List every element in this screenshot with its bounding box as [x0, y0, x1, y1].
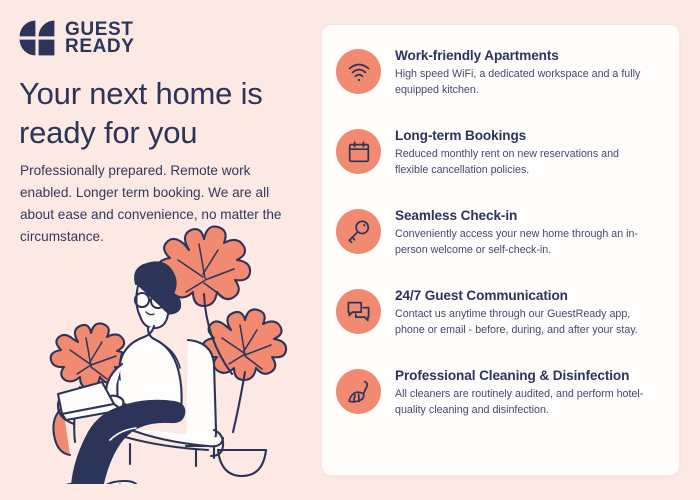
feature-text: Long-term Bookings Reduced monthly rent … [395, 127, 665, 178]
brand-wordmark: GUEST READY [65, 21, 135, 56]
feature-title: Long-term Bookings [395, 128, 665, 144]
key-icon [336, 209, 381, 254]
brand-name-line-2: READY [65, 38, 135, 55]
feature-item-seamless-check-in[interactable]: Seamless Check-in Conveniently access yo… [336, 207, 665, 271]
features-card: Work-friendly Apartments High speed WiFi… [322, 25, 679, 475]
feature-title: Professional Cleaning & Disinfection [395, 368, 665, 384]
feature-description: High speed WiFi, a dedicated workspace a… [395, 67, 647, 98]
woman-working-on-laptop-in-armchair-with-plants-illustration [18, 222, 308, 484]
feature-description: Conveniently access your new home throug… [395, 227, 647, 258]
feature-description: Reduced monthly rent on new reservations… [395, 147, 647, 178]
guestready-quadrant-logo-icon [19, 20, 55, 56]
feature-title: 24/7 Guest Communication [395, 288, 665, 304]
feature-title: Seamless Check-in [395, 208, 665, 224]
feature-item-work-friendly-apartments[interactable]: Work-friendly Apartments High speed WiFi… [336, 47, 665, 111]
feature-item-guest-communication[interactable]: 24/7 Guest Communication Contact us anyt… [336, 287, 665, 351]
broom-icon [336, 369, 381, 414]
feature-item-long-term-bookings[interactable]: Long-term Bookings Reduced monthly rent … [336, 127, 665, 191]
feature-description: All cleaners are routinely audited, and … [395, 387, 647, 418]
page-title: Your next home is ready for you [19, 74, 301, 152]
feature-title: Work-friendly Apartments [395, 48, 665, 64]
chat-bubbles-icon [336, 289, 381, 334]
feature-list: Work-friendly Apartments High speed WiFi… [322, 25, 679, 447]
feature-item-professional-cleaning[interactable]: Professional Cleaning & Disinfection All… [336, 367, 665, 431]
calendar-icon [336, 129, 381, 174]
feature-text: 24/7 Guest Communication Contact us anyt… [395, 287, 665, 338]
brand-logo[interactable]: GUEST READY [19, 20, 135, 56]
marketing-page: GUEST READY Your next home is ready for … [0, 0, 700, 500]
feature-description: Contact us anytime through our GuestRead… [395, 307, 647, 338]
left-column: GUEST READY Your next home is ready for … [0, 0, 312, 500]
feature-text: Work-friendly Apartments High speed WiFi… [395, 47, 665, 98]
feature-text: Professional Cleaning & Disinfection All… [395, 367, 665, 418]
feature-text: Seamless Check-in Conveniently access yo… [395, 207, 665, 258]
wifi-icon [336, 49, 381, 94]
